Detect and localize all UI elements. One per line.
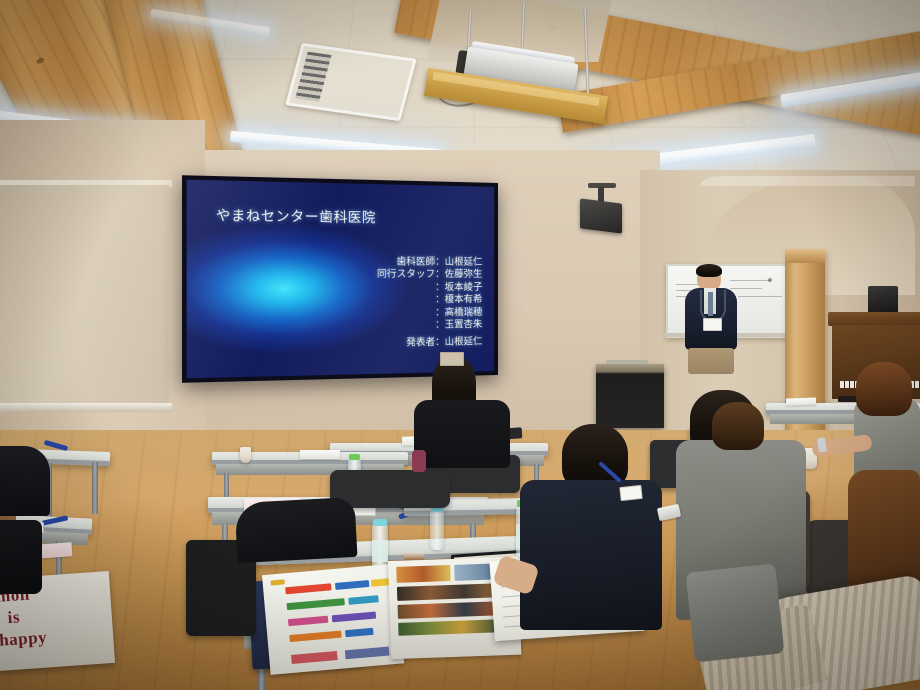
window-roller-blind[interactable] [0, 185, 169, 410]
attendee-center-torso [520, 480, 662, 630]
bag-text-line-2: is [7, 607, 21, 628]
presenter-name-badge [703, 318, 722, 331]
handout-papers [300, 450, 340, 459]
desk-leg [92, 462, 98, 514]
vent-louvers [295, 52, 331, 102]
speaker-enclosure [580, 198, 622, 233]
bag-text-line-3: happy [0, 627, 48, 650]
piano-top-speaker [868, 286, 898, 314]
bag-on-desk [412, 450, 426, 472]
lecture-room-photo: やまねセンター歯科医院 歯科医師：山根延仁 同行スタッフ：佐藤弥生 ：坂本綾子 … [0, 0, 920, 690]
piano-lid [828, 312, 920, 326]
handout-papers [786, 397, 816, 405]
name-badge [619, 485, 642, 501]
cabinet-top [596, 364, 664, 372]
attendee-center-head [556, 424, 636, 486]
wall-picture-frame [440, 352, 464, 366]
attendee-center-left-torso [414, 400, 510, 468]
av-cabinet [596, 364, 664, 428]
presenter-pants [688, 348, 734, 374]
bottle-cap [349, 454, 360, 460]
pillar-capital [785, 249, 825, 263]
paper-cup [240, 447, 251, 463]
bottle-cap [373, 519, 387, 526]
attendee-center-bottom-left-torso [235, 497, 358, 563]
wall-arch-edge [700, 176, 915, 186]
presenter-head [697, 266, 721, 290]
attendee-foreground-right-jacket [686, 564, 785, 663]
bottle-label [372, 540, 388, 562]
ceiling-speaker-icon [578, 183, 624, 235]
attendee-left-edge-lower [0, 520, 42, 594]
attendee-right-grey-head [712, 402, 768, 448]
attendee-far-right-head [856, 362, 916, 418]
screen-sheen [187, 180, 495, 379]
water-bottle [430, 510, 444, 550]
binder-left-page [262, 564, 404, 675]
cabinet-remote [606, 360, 648, 364]
projected-slide: やまねセンター歯科医院 歯科医師：山根延仁 同行スタッフ：佐藤弥生 ：坂本綾子 … [187, 180, 495, 379]
projector-rig [425, 0, 625, 125]
blind-bottom-bar[interactable] [0, 403, 172, 412]
attendee-left-edge-torso [0, 446, 50, 516]
